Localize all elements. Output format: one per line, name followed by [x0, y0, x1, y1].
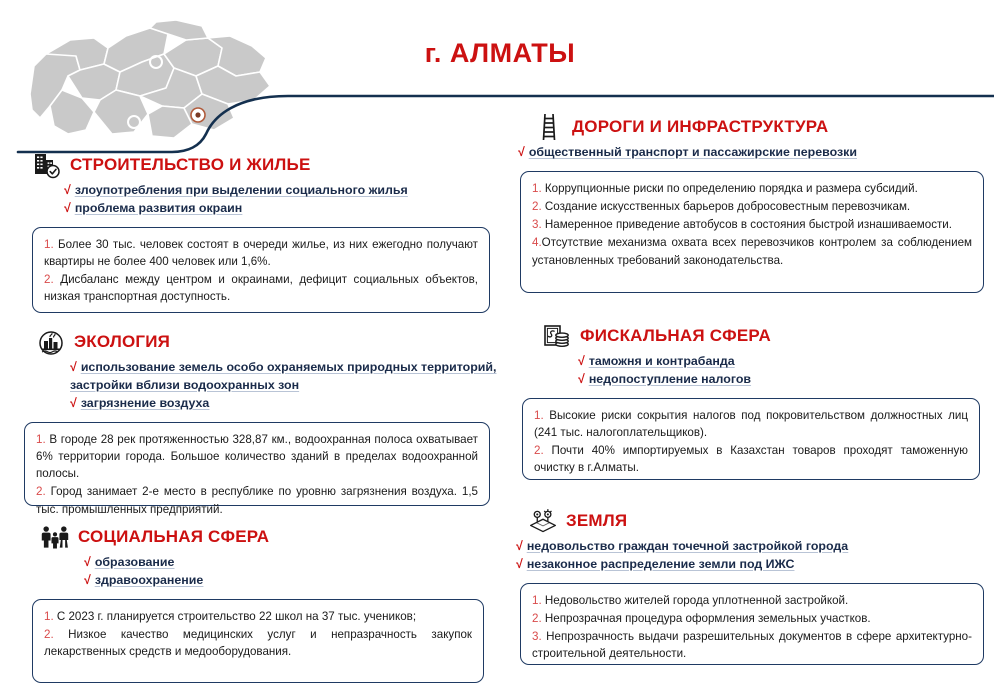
- check-icon: √: [578, 353, 585, 371]
- right-column: ДОРОГИ И ИНФРАСТРУКТУРА √общественный тр…: [512, 112, 990, 669]
- detail-box: 1. В городе 28 рек протяженностью 328,87…: [24, 422, 490, 506]
- section-bullets: √таможня и контрабанда √недопоступление …: [578, 353, 990, 389]
- detail-item: 1. Недовольство жителей города уплотненн…: [532, 592, 972, 609]
- almaty-marker: [191, 108, 205, 122]
- kazakhstan-map: [16, 14, 288, 146]
- bullet-item: √незаконное распределение земли под ИЖС: [516, 556, 990, 574]
- bullet-item: √злоупотребления при выделении социально…: [64, 182, 498, 200]
- factory-pollution-icon: [36, 327, 66, 357]
- section-title: СТРОИТЕЛЬСТВО И ЖИЛЬЕ: [70, 155, 311, 175]
- bullet-item: √недопоступление налогов: [578, 371, 990, 389]
- check-icon: √: [70, 359, 77, 377]
- section-title: ЗЕМЛЯ: [566, 511, 627, 531]
- section-bullets: √недовольство граждан точечной застройко…: [516, 538, 990, 574]
- detail-box: 1. Высокие риски сокрытия налогов под по…: [522, 398, 980, 480]
- left-column: СТРОИТЕЛЬСТВО И ЖИЛЬЕ √злоупотребления п…: [18, 150, 498, 687]
- check-icon: √: [84, 572, 91, 590]
- page-title: г. АЛМАТЫ: [330, 38, 670, 69]
- detail-box: 1. Недовольство жителей города уплотненн…: [520, 583, 984, 665]
- detail-item: 2. Дисбаланс между центром и окраинами, …: [44, 271, 478, 305]
- road-icon: [534, 112, 564, 142]
- section-ecology: ЭКОЛОГИЯ √использование земель особо охр…: [18, 327, 498, 506]
- detail-box: 1. С 2023 г. планируется строительство 2…: [32, 599, 484, 683]
- bullet-item: √общественный транспорт и пассажирские п…: [518, 144, 990, 162]
- section-fiscal: ФИСКАЛЬНАЯ СФЕРА √таможня и контрабанда …: [512, 321, 990, 480]
- section-bullets: √образование √здравоохранение: [84, 554, 498, 590]
- section-land: ЗЕМЛЯ √недовольство граждан точечной зас…: [512, 506, 990, 665]
- check-icon: √: [64, 200, 71, 218]
- section-header: СОЦИАЛЬНАЯ СФЕРА: [40, 522, 498, 552]
- building-check-icon: [32, 150, 62, 180]
- bullet-item: √использование земель особо охраняемых п…: [70, 359, 498, 395]
- bullet-item: √недовольство граждан точечной застройко…: [516, 538, 990, 556]
- section-bullets: √общественный транспорт и пассажирские п…: [518, 144, 990, 162]
- detail-item: 3. Непрозрачность выдачи разрешительных …: [532, 628, 972, 662]
- detail-item: 3. Намеренное приведение автобусов в сос…: [532, 216, 972, 233]
- section-header: ДОРОГИ И ИНФРАСТРУКТУРА: [534, 112, 990, 142]
- section-header: ЭКОЛОГИЯ: [36, 327, 498, 357]
- check-icon: √: [578, 371, 585, 389]
- detail-box: 1. Коррупционные риски по определению по…: [520, 171, 984, 293]
- detail-item: 1. С 2023 г. планируется строительство 2…: [44, 608, 472, 625]
- family-icon: [40, 522, 70, 552]
- detail-item: 2. Создание искусственных барьеров добро…: [532, 198, 972, 215]
- money-icon: [542, 321, 572, 351]
- section-title: ДОРОГИ И ИНФРАСТРУКТУРА: [572, 117, 828, 137]
- section-title: СОЦИАЛЬНАЯ СФЕРА: [78, 527, 269, 547]
- detail-item: 2. Город занимает 2-е место в республике…: [36, 483, 478, 517]
- bullet-item: √проблема развития окраин: [64, 200, 498, 218]
- check-icon: √: [84, 554, 91, 572]
- section-header: СТРОИТЕЛЬСТВО И ЖИЛЬЕ: [32, 150, 498, 180]
- section-bullets: √использование земель особо охраняемых п…: [70, 359, 498, 413]
- section-roads: ДОРОГИ И ИНФРАСТРУКТУРА √общественный тр…: [512, 112, 990, 293]
- section-bullets: √злоупотребления при выделении социально…: [64, 182, 498, 218]
- detail-item: 1. Коррупционные риски по определению по…: [532, 180, 972, 197]
- section-title: ЭКОЛОГИЯ: [74, 332, 170, 352]
- detail-item: 2. Почти 40% импортируемых в Казахстан т…: [534, 442, 968, 476]
- infographic-page: г. АЛМАТЫ: [0, 0, 994, 668]
- detail-item: 1. Высокие риски сокрытия налогов под по…: [534, 407, 968, 441]
- section-header: ЗЕМЛЯ: [528, 506, 990, 536]
- bullet-item: √здравоохранение: [84, 572, 498, 590]
- section-title: ФИСКАЛЬНАЯ СФЕРА: [580, 326, 771, 346]
- check-icon: √: [516, 538, 523, 556]
- check-icon: √: [64, 182, 71, 200]
- bullet-item: √образование: [84, 554, 498, 572]
- detail-item: 4.Отсутствие механизма охвата всех перев…: [532, 234, 972, 268]
- section-construction: СТРОИТЕЛЬСТВО И ЖИЛЬЕ √злоупотребления п…: [18, 150, 498, 313]
- section-social: СОЦИАЛЬНАЯ СФЕРА √образование √здравоохр…: [18, 522, 498, 683]
- detail-item: 1. В городе 28 рек протяженностью 328,87…: [36, 431, 478, 482]
- check-icon: √: [518, 144, 525, 162]
- detail-item: 2. Непрозрачная процедура оформления зем…: [532, 610, 972, 627]
- detail-item: 2. Низкое качество медицинских услуг и н…: [44, 626, 472, 660]
- detail-box: 1. Более 30 тыс. человек состоят в очере…: [32, 227, 490, 313]
- detail-item: 1. Более 30 тыс. человек состоят в очере…: [44, 236, 478, 270]
- section-header: ФИСКАЛЬНАЯ СФЕРА: [542, 321, 990, 351]
- bullet-item: √таможня и контрабанда: [578, 353, 990, 371]
- land-map-pins-icon: [528, 506, 558, 536]
- bullet-item: √загрязнение воздуха: [70, 395, 498, 413]
- check-icon: √: [516, 556, 523, 574]
- check-icon: √: [70, 395, 77, 413]
